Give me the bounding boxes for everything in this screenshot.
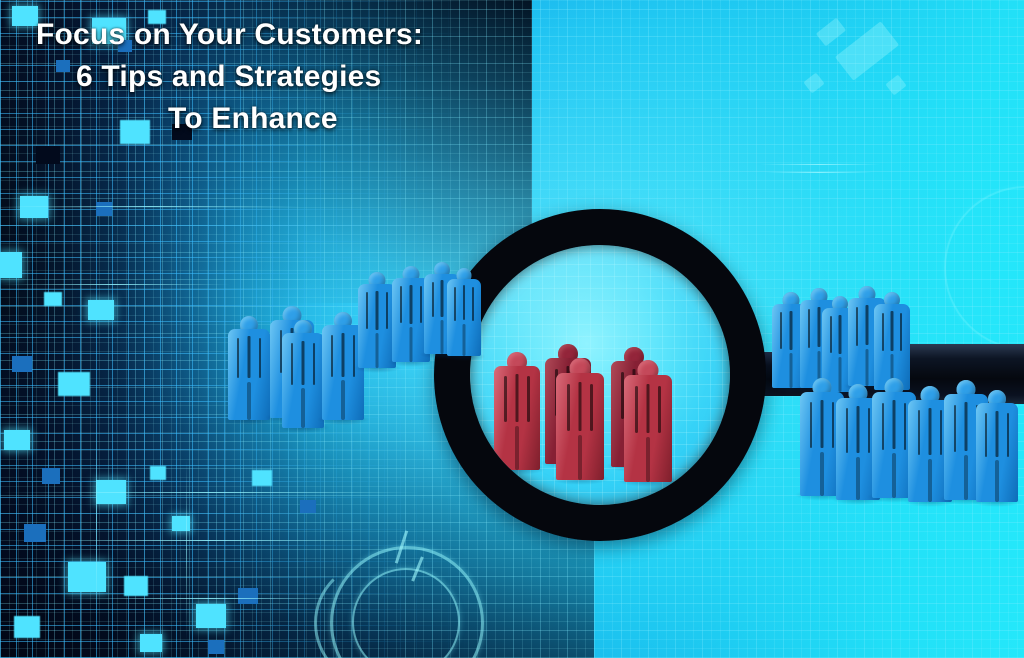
figure-arm-gap [868, 408, 870, 453]
data-streak [186, 460, 187, 640]
figure-tie [248, 336, 251, 378]
data-chip [120, 120, 150, 144]
data-chip [238, 588, 258, 604]
data-chip [196, 604, 226, 628]
data-chip [150, 466, 166, 480]
figure-arm-gap [590, 384, 593, 431]
figure-arm-gap [658, 386, 661, 433]
figure-leg-split [646, 437, 650, 482]
figure-arm-gap [918, 410, 920, 455]
data-chip [56, 60, 70, 72]
figure-arm-gap [504, 376, 507, 422]
figure-arm-gap [472, 287, 474, 321]
figure-arm-gap [832, 402, 834, 448]
hero-banner: Focus on Your Customers: 6 Tips and Stra… [0, 0, 1024, 658]
figure-leg-split [820, 452, 824, 496]
figure-arm-gap [313, 343, 315, 385]
figure-arm-gap [882, 313, 884, 351]
figure-arm-gap [400, 286, 402, 323]
figure-arm-gap [259, 338, 261, 378]
crowd-figure [874, 292, 910, 390]
figure-tie [929, 408, 932, 455]
figure-arm-gap [366, 292, 368, 329]
data-chip [300, 500, 316, 513]
data-chip [0, 252, 22, 278]
data-chip [58, 372, 90, 396]
figure-leg-split [578, 435, 582, 480]
data-chip [44, 292, 62, 306]
crowd-figure [358, 272, 396, 368]
data-chip [172, 516, 190, 531]
crowd-figure [228, 316, 270, 420]
data-streak [60, 598, 360, 599]
data-streak [0, 206, 300, 207]
figure-arm-gap [900, 313, 902, 351]
figure-tie [818, 307, 821, 347]
figure-arm-gap [291, 343, 293, 385]
figure-tie [996, 411, 999, 457]
data-chip [252, 470, 272, 486]
figure-leg-split [463, 324, 466, 356]
crowd-figure [282, 320, 324, 428]
figure-tie [965, 402, 968, 451]
figure-tie [857, 406, 860, 453]
figure-tie [893, 400, 896, 449]
figure-leg-split [892, 453, 896, 498]
figure-arm-gap [386, 292, 388, 329]
data-streak [96, 420, 97, 620]
data-chip [68, 562, 106, 592]
data-chip [20, 196, 48, 218]
data-chip [208, 640, 224, 654]
data-chip [42, 468, 60, 484]
figure-tie [821, 400, 824, 448]
figure-arm-gap [420, 286, 422, 323]
figure-arm-gap [810, 402, 812, 448]
figure-arm-gap [454, 287, 456, 321]
crowd-figure [976, 390, 1018, 502]
figure-tie [839, 315, 842, 354]
figure-arm-gap [830, 316, 832, 353]
figure-tie [516, 374, 519, 422]
figure-tie [647, 384, 650, 433]
figure-leg-split [410, 327, 413, 362]
data-chip [36, 146, 60, 164]
data-streak [0, 284, 230, 285]
figure-leg-split [247, 382, 251, 420]
figure-leg-split [515, 426, 519, 470]
data-chip [4, 430, 30, 450]
data-chip [148, 10, 166, 24]
figure-arm-gap [808, 309, 810, 348]
figure-arm-gap [1007, 413, 1009, 457]
figure-tie [376, 291, 379, 330]
figure-arm-gap [237, 338, 239, 378]
figure-tie [790, 311, 793, 350]
figure-tie [866, 305, 869, 345]
figure-leg-split [441, 320, 444, 354]
figure-arm-gap [780, 312, 782, 349]
figure-leg-split [790, 353, 793, 388]
figure-tie [891, 311, 894, 351]
data-chip [12, 6, 38, 26]
figure-leg-split [866, 349, 869, 386]
figure-tie [441, 280, 444, 317]
figure-leg-split [995, 460, 999, 502]
figure-leg-split [376, 333, 379, 368]
figure-leg-split [928, 459, 932, 502]
data-chip [140, 634, 162, 652]
data-chip [124, 576, 148, 596]
data-chip [14, 616, 40, 638]
focused-customer-figure [624, 360, 672, 482]
figure-tie [302, 341, 305, 385]
figure-tie [463, 285, 465, 320]
data-streak [0, 492, 420, 493]
figure-leg-split [341, 380, 345, 420]
figure-arm-gap [882, 403, 884, 450]
data-chip [12, 356, 32, 372]
figure-arm-gap [846, 408, 848, 453]
figure-arm-gap [527, 376, 530, 422]
figure-arm-gap [940, 410, 942, 455]
figure-tie [342, 333, 345, 377]
figure-arm-gap [432, 282, 434, 317]
figure-arm-gap [856, 307, 858, 346]
data-chip [172, 124, 192, 140]
figure-arm-gap [567, 384, 570, 431]
figure-tie [579, 382, 582, 431]
figure-leg-split [856, 457, 860, 500]
data-streak [766, 172, 872, 173]
figure-arm-gap [904, 403, 906, 450]
data-chip [118, 40, 132, 52]
data-chip [88, 300, 114, 320]
figure-arm-gap [985, 413, 987, 457]
figure-arm-gap [331, 335, 333, 377]
crowd-figure [447, 268, 481, 356]
figure-tie [410, 285, 413, 324]
figure-leg-split [301, 388, 305, 428]
focused-customer-figure [494, 352, 540, 470]
figure-leg-split [964, 455, 968, 500]
data-chip [96, 202, 112, 216]
figure-arm-gap [635, 386, 638, 433]
data-streak [760, 164, 880, 165]
figure-arm-gap [954, 405, 956, 452]
figure-arm-gap [353, 335, 355, 377]
focused-customer-figure [556, 358, 604, 480]
data-streak [30, 540, 390, 541]
